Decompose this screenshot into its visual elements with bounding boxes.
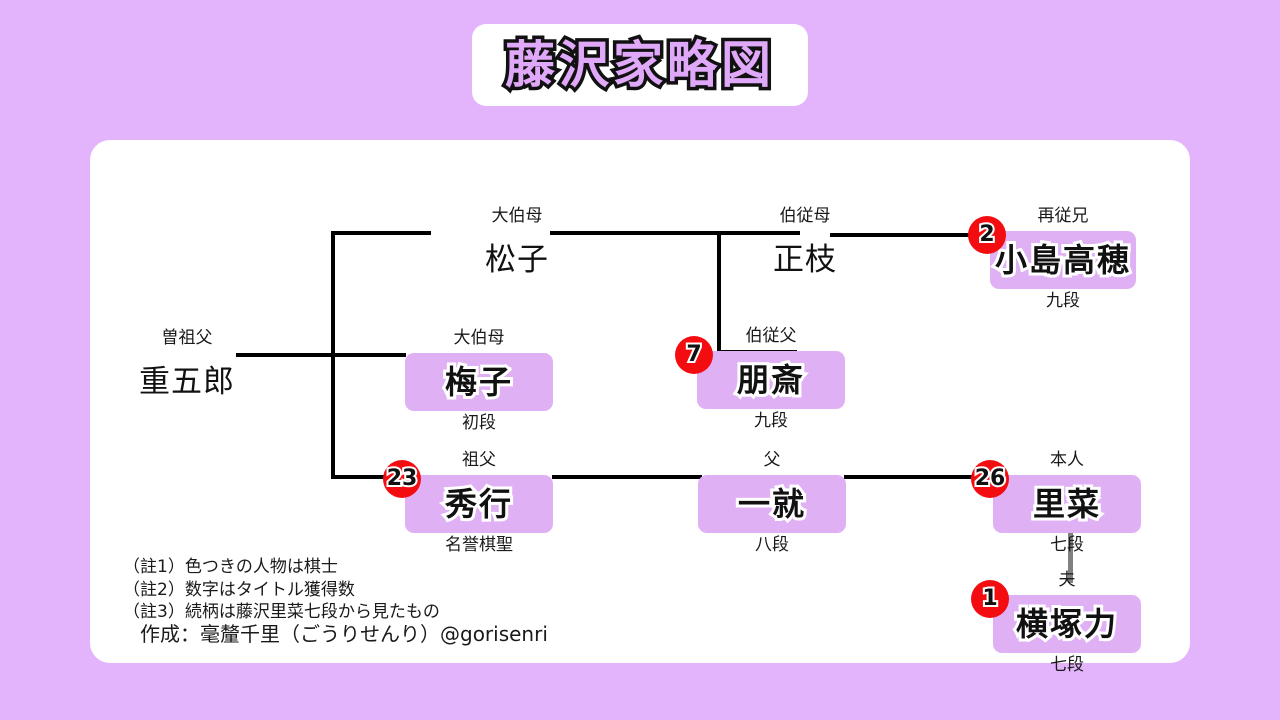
person-hideyuki-title-badge: 23	[383, 460, 421, 498]
note-1: （註1）色つきの人物は棋士	[123, 556, 440, 579]
person-hideyuki-rank: 名誉棋聖	[405, 537, 553, 554]
person-masae-namebox: 正枝	[740, 231, 870, 289]
page-title: 藤沢家略図	[505, 40, 775, 90]
person-hosai-name: 朋斎	[737, 364, 805, 396]
person-rina-title-badge: 26	[971, 460, 1009, 498]
connector-jugoro-umeko	[236, 353, 406, 357]
person-kojima-namebox: 小島高穂	[990, 231, 1136, 289]
person-umeko-rank: 初段	[405, 415, 553, 432]
person-yokozuka-relation: 夫	[993, 572, 1141, 589]
person-yokozuka-title-badge: 1	[971, 580, 1009, 618]
person-kojima-relation: 再従兄	[990, 208, 1136, 225]
person-yokozuka-rank: 七段	[993, 657, 1141, 674]
person-kazunari-relation: 父	[698, 452, 846, 469]
person-masae-relation: 伯従母	[740, 208, 870, 225]
person-hosai-rank: 九段	[697, 413, 845, 430]
title-plate: 藤沢家略図	[472, 24, 808, 106]
connector-hideyuki-kazunari	[552, 475, 702, 479]
person-umeko-name: 梅子	[445, 366, 513, 398]
person-umeko-relation: 大伯母	[405, 330, 553, 347]
person-kazunari-namebox: 一就	[698, 475, 846, 533]
credit-line: 作成：毫釐千里（ごうりせんり）@gorisenri	[140, 624, 548, 644]
person-hideyuki-name: 秀行	[445, 488, 513, 520]
person-kazunari-name: 一就	[738, 488, 806, 520]
person-hosai-title-badge: 7	[675, 336, 713, 374]
person-kojima-name: 小島高穂	[995, 244, 1131, 276]
person-rina-rank: 七段	[993, 537, 1141, 554]
person-jugoro-relation: 曽祖父	[122, 330, 252, 347]
note-2: （註2）数字はタイトル獲得数	[123, 579, 440, 602]
person-matsuko-relation: 大伯母	[452, 208, 582, 225]
notes-block: （註1）色つきの人物は棋士 （註2）数字はタイトル獲得数 （註3）続柄は藤沢里菜…	[123, 556, 440, 624]
connector-matsuko-left	[331, 231, 431, 235]
person-kojima-rank: 九段	[990, 293, 1136, 310]
person-yokozuka-namebox: 横塚力	[993, 595, 1141, 653]
person-jugoro-namebox: 重五郎	[122, 353, 252, 411]
person-hideyuki-namebox: 秀行	[405, 475, 553, 533]
person-kazunari-rank: 八段	[698, 537, 846, 554]
person-yokozuka-name: 横塚力	[1016, 608, 1118, 640]
person-hosai-relation: 伯従父	[697, 328, 845, 345]
person-rina-name: 里菜	[1033, 488, 1101, 520]
person-umeko-namebox: 梅子	[405, 353, 553, 411]
person-rina-namebox: 里菜	[993, 475, 1141, 533]
person-masae-name: 正枝	[773, 245, 837, 276]
note-3: （註3）続柄は藤沢里菜七段から見たもの	[123, 601, 440, 624]
person-hideyuki-relation: 祖父	[405, 452, 553, 469]
person-matsuko-namebox: 松子	[452, 231, 582, 289]
person-hosai-namebox: 朋斎	[697, 351, 845, 409]
person-kojima-title-badge: 2	[968, 216, 1006, 254]
person-matsuko-name: 松子	[485, 245, 549, 276]
person-rina-relation: 本人	[993, 452, 1141, 469]
family-tree-card: 大伯母 松子 伯従母 正枝 2 再従兄 小島高穂 九段 曽祖父 重五郎 大伯母 …	[90, 140, 1190, 663]
person-jugoro-name: 重五郎	[139, 367, 235, 398]
